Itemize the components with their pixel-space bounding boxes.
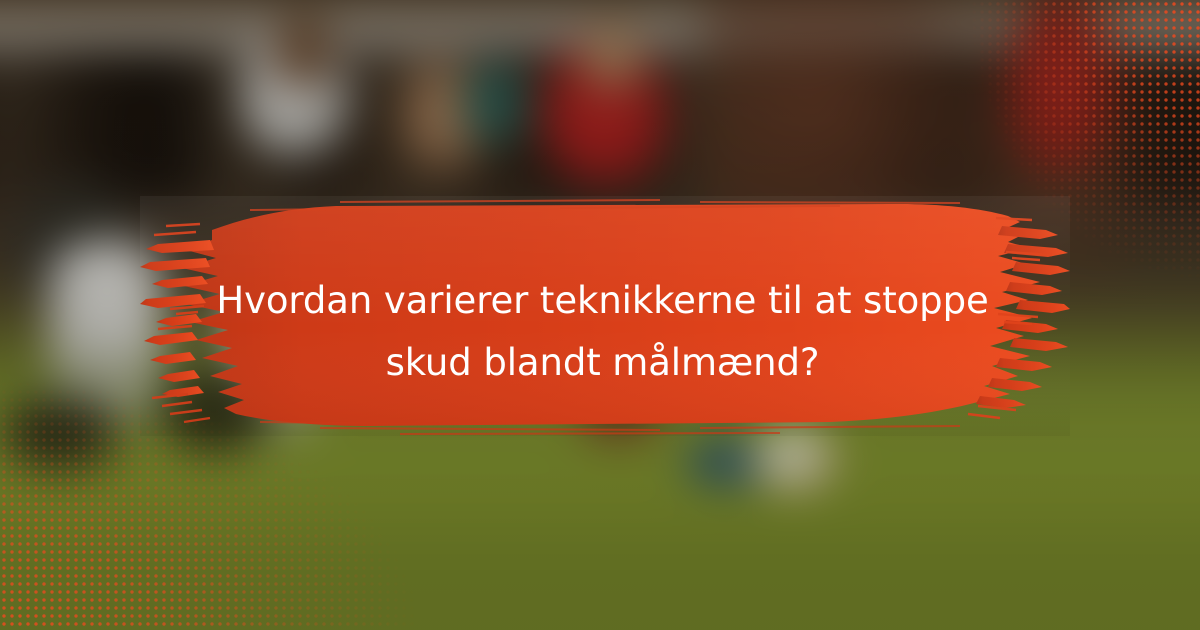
- share-card-canvas: Hvordan varierer teknikkerne til at stop…: [0, 0, 1200, 630]
- headline-line-2: skud blandt målmænd?: [215, 332, 990, 394]
- headline: Hvordan varierer teknikkerne til at stop…: [215, 270, 990, 394]
- headline-line-1: Hvordan varierer teknikkerne til at stop…: [215, 270, 990, 332]
